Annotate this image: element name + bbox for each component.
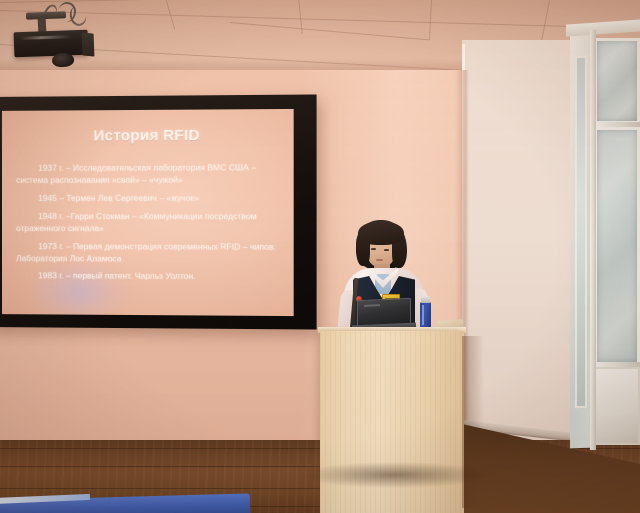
slide-bullet: 1983 г. – первый патент. Чарльз Уолтон.: [16, 271, 283, 284]
door-kick-panel[interactable]: [594, 367, 640, 445]
projector-mount-plate: [26, 11, 66, 19]
slide-bullet: 1973 г. – Первая демонстрация современны…: [16, 241, 283, 266]
window-jamb-left: [590, 30, 596, 450]
transom-pane: [594, 38, 640, 124]
slide-bullet: 1948 г. –Гарри Стокман – «Коммуникации п…: [16, 211, 283, 235]
window-narrow-pane: [575, 56, 587, 408]
projector-front-panel: [82, 32, 95, 56]
presentation-room-photo: История RFID 1937 г. – Исследовательская…: [0, 0, 640, 513]
bottle-cap: [421, 296, 430, 303]
projection-screen-frame: История RFID 1937 г. – Исследовательская…: [0, 94, 317, 329]
presenter-eye-right: [384, 249, 389, 251]
laptop-brand-mark: [364, 304, 380, 307]
door-glass-pane: [594, 127, 640, 365]
bottle-highlight: [422, 305, 424, 325]
presenter-hair-fringe: [358, 221, 404, 245]
presenter-mouth: [376, 259, 383, 261]
presenter-eye-left: [371, 248, 376, 250]
projection-screen-surface: История RFID 1937 г. – Исследовательская…: [2, 109, 294, 316]
slide-title: История RFID: [2, 126, 294, 145]
projector-body: [14, 30, 89, 58]
slide-body: 1937 г. – Исследовательская лаборатория …: [16, 162, 283, 290]
slide-bullet: 1945 – Термен Лев Сергеевич – «жучок»: [16, 192, 283, 204]
slide-bullet: 1937 г. – Исследовательская лаборатория …: [16, 162, 283, 187]
lectern-floor-shadow: [300, 462, 490, 488]
